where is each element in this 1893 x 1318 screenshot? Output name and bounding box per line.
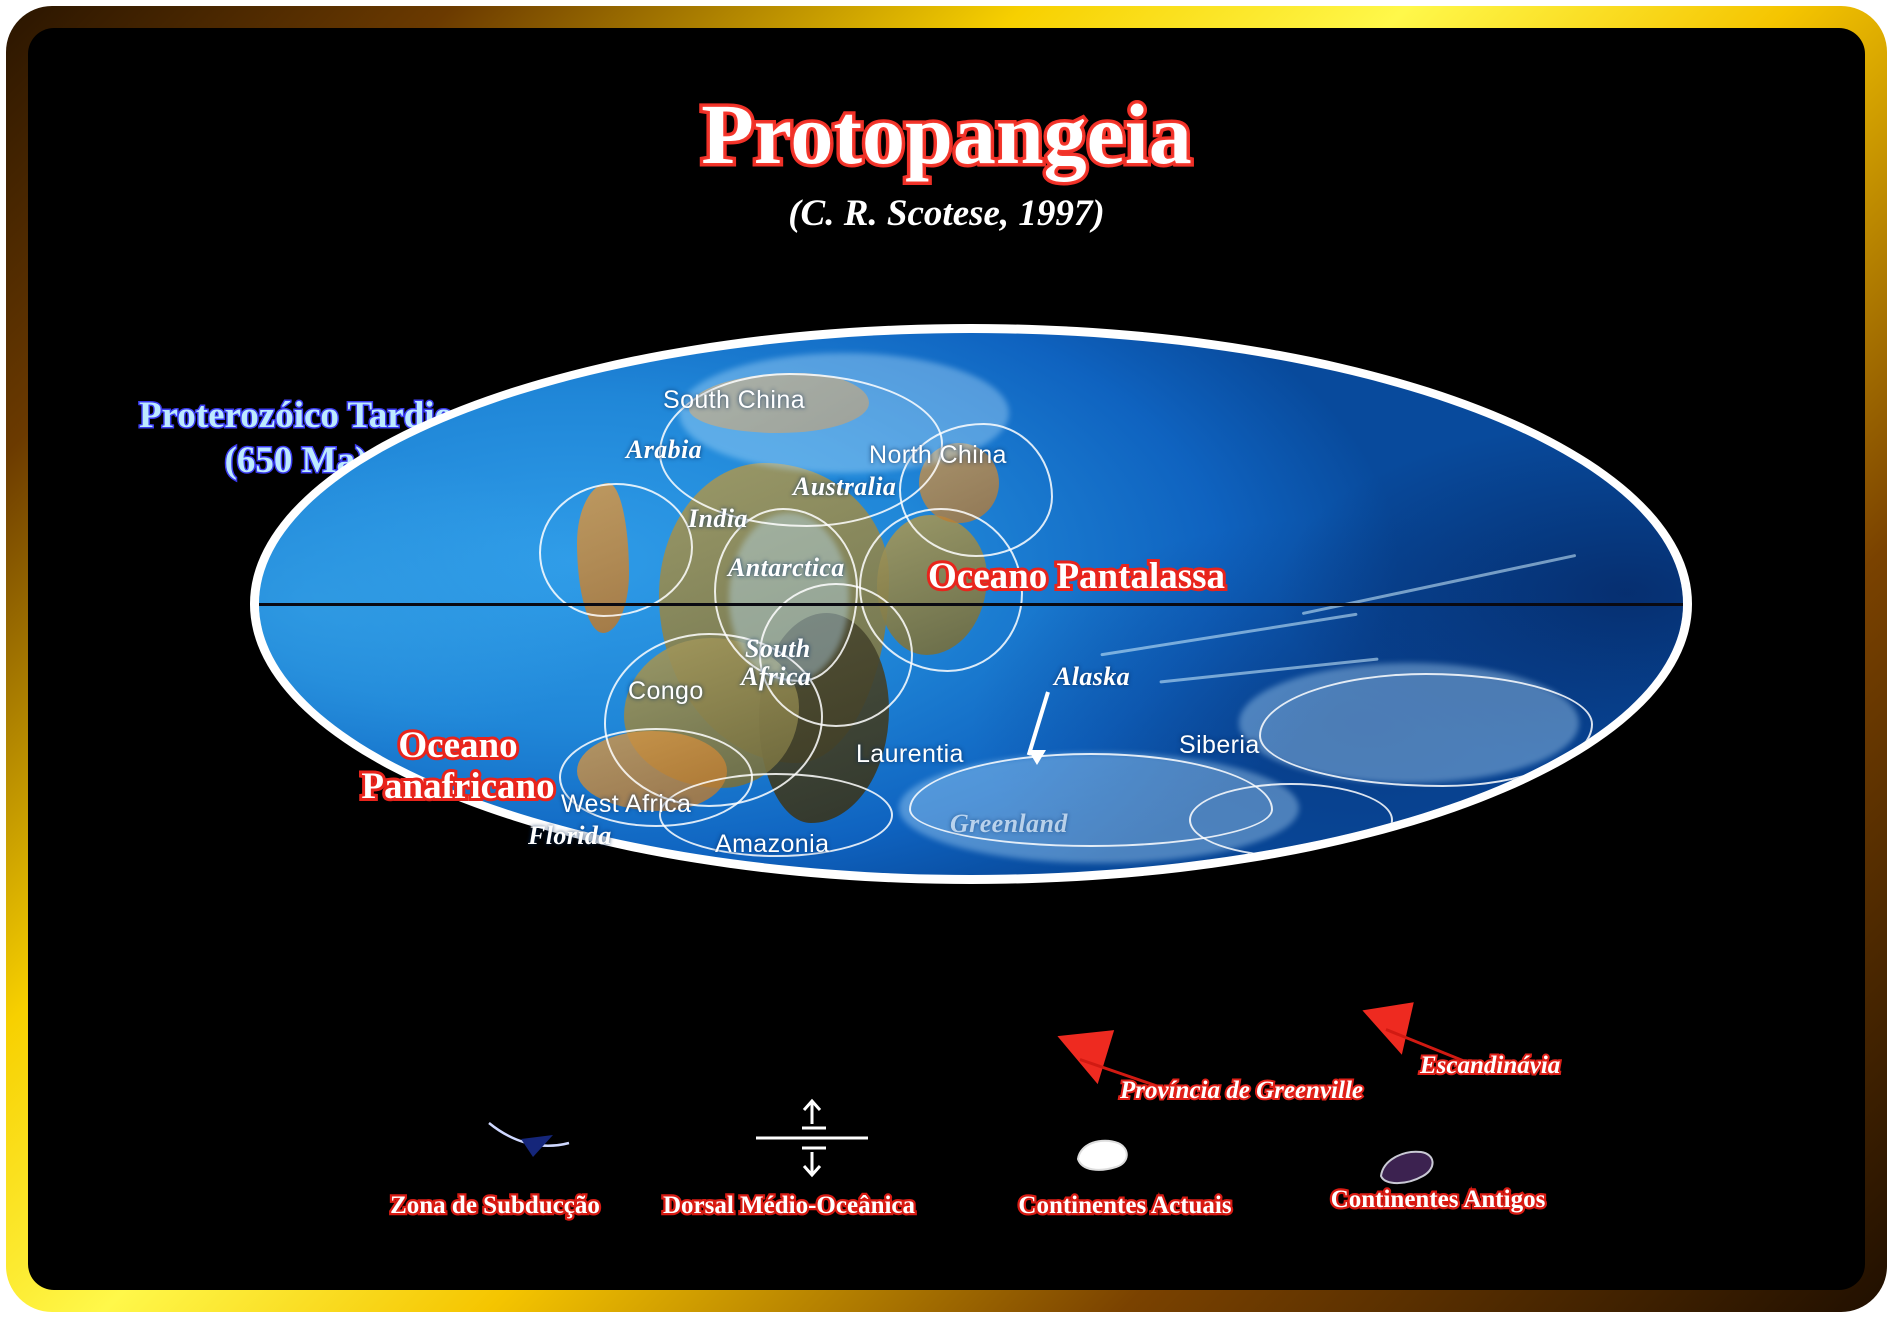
- poster-root: Protopangeia (C. R. Scotese, 1997) Prote…: [0, 0, 1893, 1318]
- map-label-siberia: Siberia: [1179, 731, 1260, 760]
- map-label-florida: Florida: [528, 821, 612, 851]
- map-label-greenland: Greenland: [950, 809, 1068, 839]
- greenville-arrowhead-icon: [1057, 1030, 1119, 1088]
- ocean-label-panafricano-line2: Panafricano: [358, 766, 558, 807]
- map-label-australia: Australia: [793, 472, 896, 502]
- mid-ocean-ridge-symbol-icon: [746, 1098, 876, 1178]
- map-label-south-africa-line2: Africa: [741, 662, 811, 692]
- equator-line: [259, 603, 1683, 606]
- subduction-zone-symbol-icon: [483, 1113, 593, 1163]
- map-label-north-china: North China: [869, 441, 1007, 470]
- map-label-antarctica: Antarctica: [728, 553, 845, 583]
- map-label-amazonia: Amazonia: [715, 830, 829, 859]
- coastline-greenland: [1189, 783, 1393, 857]
- coastline-siberia: [1259, 673, 1593, 787]
- legend-label-modern-continents: Continentes Actuais: [1018, 1192, 1231, 1220]
- alaska-pointer-arrowhead: [1028, 750, 1046, 765]
- map-label-south-africa-line1: South: [745, 634, 811, 664]
- page-subtitle: (C. R. Scotese, 1997): [28, 192, 1865, 235]
- map-label-congo: Congo: [628, 677, 704, 706]
- annotation-greenville: Província de Greenville: [1120, 1077, 1363, 1105]
- annotation-escandinavia: Escandinávia: [1420, 1052, 1560, 1080]
- poster-canvas: Protopangeia (C. R. Scotese, 1997) Prote…: [28, 28, 1865, 1290]
- map-label-laurentia: Laurentia: [856, 740, 964, 769]
- legend-label-ancient-continents: Continentes Antigos: [1331, 1186, 1546, 1214]
- ocean-label-panafricano: Oceano Panafricano: [358, 725, 558, 808]
- legend-label-ridge: Dorsal Médio-Oceânica: [663, 1192, 915, 1220]
- legend-label-subduction: Zona de Subducção: [390, 1192, 600, 1220]
- page-title: Protopangeia: [28, 84, 1865, 184]
- map-label-alaska: Alaska: [1054, 662, 1130, 692]
- map-label-west-africa: West Africa: [561, 790, 691, 819]
- map-label-south-china: South China: [663, 386, 805, 415]
- ocean-label-pantalassa: Oceano Pantalassa: [928, 556, 1225, 597]
- map-label-arabia: Arabia: [626, 435, 702, 465]
- ocean-label-panafricano-line1: Oceano: [358, 725, 558, 766]
- ancient-continent-symbol-icon: [1373, 1146, 1443, 1188]
- map-label-india: India: [688, 504, 748, 534]
- modern-continent-symbol-icon: [1068, 1133, 1138, 1179]
